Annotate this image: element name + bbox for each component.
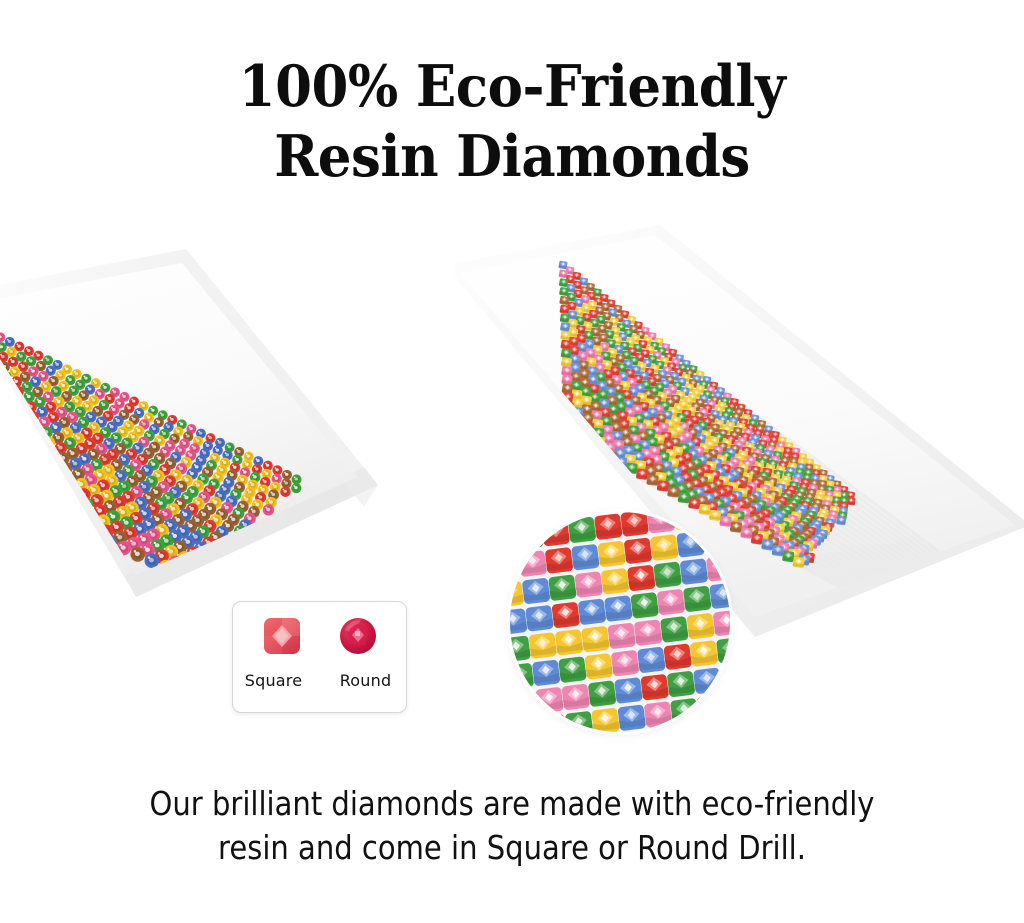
legend-label-row: Square Round: [233, 671, 406, 690]
drill-type-legend: Square Round: [232, 601, 407, 713]
round-drill-icon: [337, 615, 379, 657]
caption-text: Our brilliant diamonds are made with eco…: [61, 782, 962, 870]
page-title: 100% Eco-Friendly Resin Diamonds: [36, 52, 988, 191]
round-label: Round: [330, 671, 402, 690]
square-label: Square: [238, 671, 310, 690]
infographic-canvas: 100% Eco-Friendly Resin Diamonds: [0, 0, 1024, 923]
round-drill-tray: [0, 245, 386, 645]
zoom-detail-circle: [510, 512, 730, 732]
square-drill-icon: [261, 615, 303, 657]
legend-swatch-row: [233, 615, 406, 657]
